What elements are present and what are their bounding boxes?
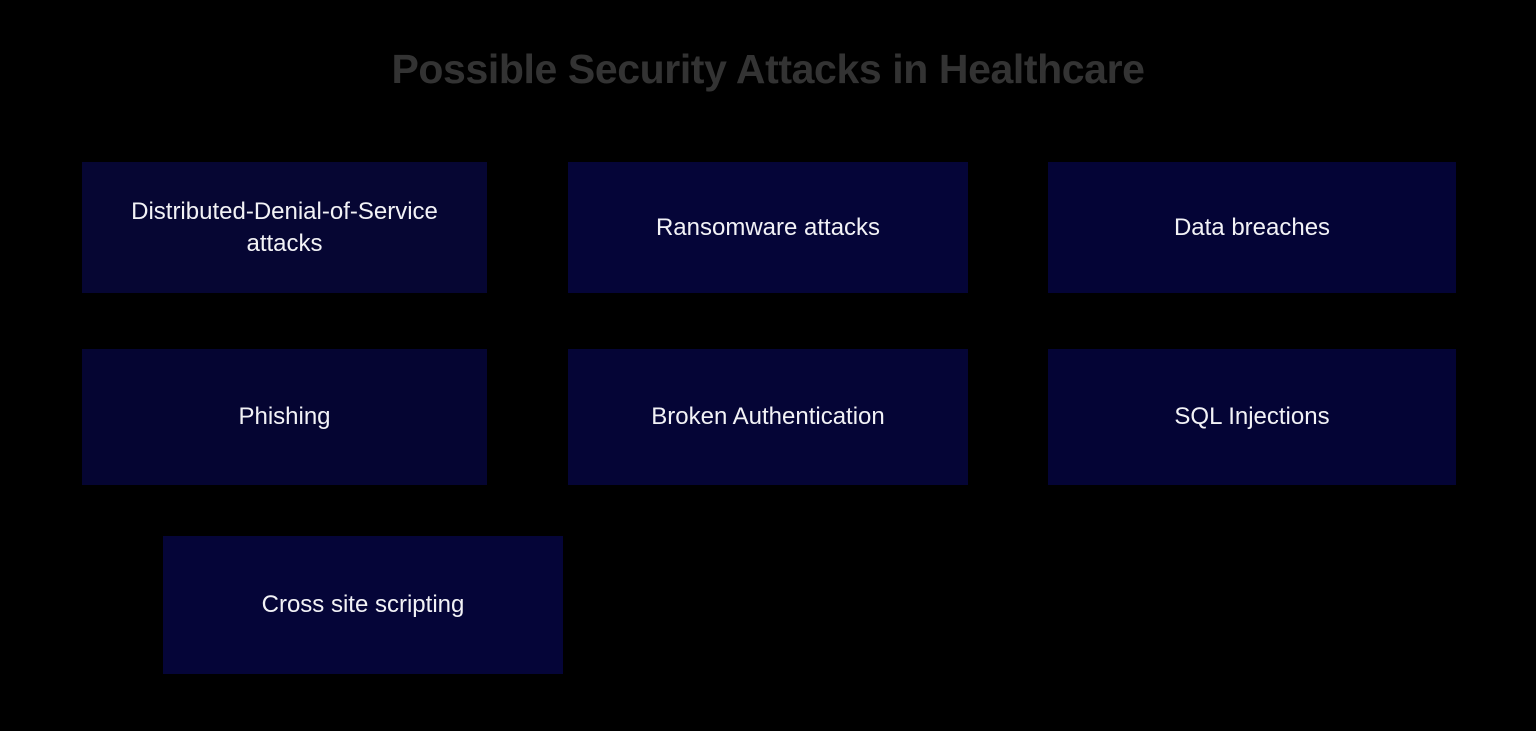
card-label: Ransomware attacks [656,212,880,244]
card-sql-injections[interactable]: SQL Injections [1048,349,1456,485]
card-cross-site-scripting[interactable]: Cross site scripting [163,536,563,674]
card-row: Cross site scripting [82,536,1456,674]
card-label: Distributed-Denial-of-Service attacks [100,196,469,259]
card-ransomware-attacks[interactable]: Ransomware attacks [568,162,968,293]
card-row: Distributed-Denial-of-Service attacks Ra… [82,162,1456,293]
card-label: SQL Injections [1174,401,1329,433]
card-label: Data breaches [1174,212,1330,244]
attack-card-grid: Distributed-Denial-of-Service attacks Ra… [82,162,1456,674]
card-data-breaches[interactable]: Data breaches [1048,162,1456,293]
card-label: Phishing [238,401,330,433]
page-title: Possible Security Attacks in Healthcare [0,46,1536,93]
card-phishing[interactable]: Phishing [82,349,487,485]
slide-canvas: Possible Security Attacks in Healthcare … [0,0,1536,731]
card-label: Broken Authentication [651,401,885,433]
card-row: Phishing Broken Authentication SQL Injec… [82,349,1456,485]
card-broken-authentication[interactable]: Broken Authentication [568,349,968,485]
card-ddos-attacks[interactable]: Distributed-Denial-of-Service attacks [82,162,487,293]
card-label: Cross site scripting [262,589,465,621]
